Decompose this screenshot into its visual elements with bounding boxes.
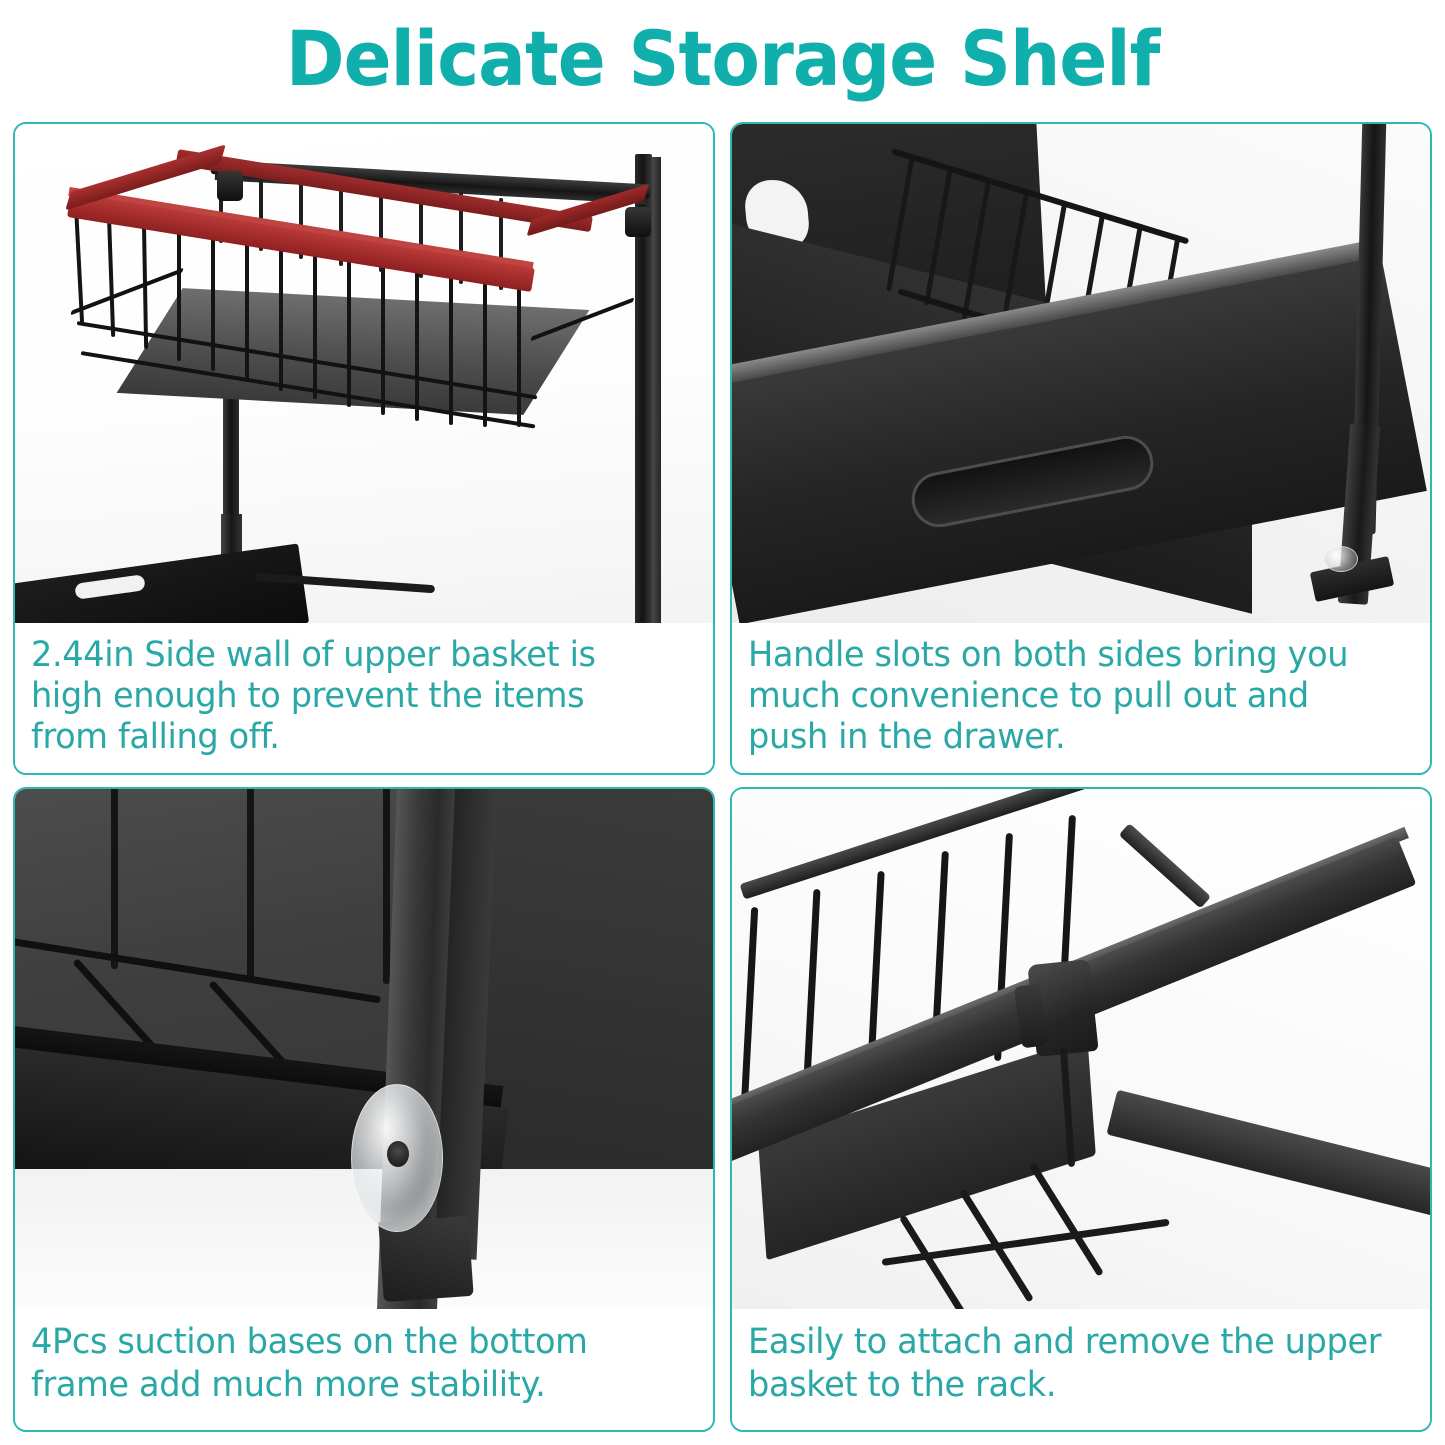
basket-rim-right [1119, 823, 1211, 908]
basket-wire [245, 235, 249, 381]
panel-caption-text: 4Pcs suction bases on the bottom frame a… [31, 1321, 670, 1407]
basket-lower-wire [1029, 1163, 1104, 1277]
panel-caption-text: Handle slots on both sides bring you muc… [748, 635, 1387, 758]
photo-backdrop [732, 789, 1430, 1309]
basket-wire [517, 283, 521, 427]
basket-bottom-rail-2 [81, 351, 536, 428]
feature-panel-upper-basket-side-wall: 2.44in Side wall of upper basket is high… [13, 122, 715, 775]
feature-panel-grid: 2.44in Side wall of upper basket is high… [13, 122, 1432, 1432]
basket-hook-clip [217, 171, 243, 201]
lower-shelf [15, 544, 309, 623]
page-title-bar: Delicate Storage Shelf [0, 0, 1445, 118]
product-photo-suction-base [15, 789, 713, 1309]
basket-side-rail-right [530, 297, 634, 341]
shelf-wire [111, 789, 118, 969]
product-photo-drawer-handle [732, 124, 1430, 623]
frame-post-right-inner [652, 157, 661, 623]
panel-caption-area: 2.44in Side wall of upper basket is high… [15, 623, 713, 773]
basket-wire [415, 265, 419, 421]
shelf-wire [383, 789, 390, 984]
basket-wire [211, 229, 215, 371]
basket-wire [449, 271, 453, 425]
product-photo-basket-hook [732, 789, 1430, 1309]
panel-caption-text: Easily to attach and remove the upper ba… [748, 1321, 1387, 1407]
product-photo-upper-basket [15, 124, 713, 623]
feature-panel-handle-slots: Handle slots on both sides bring you muc… [730, 122, 1432, 775]
panel-caption-area: Easily to attach and remove the upper ba… [732, 1309, 1430, 1430]
feature-panel-removable-basket: Easily to attach and remove the upper ba… [730, 787, 1432, 1432]
panel-caption-area: Handle slots on both sides bring you muc… [732, 623, 1430, 773]
basket-lower-rail [882, 1219, 1170, 1266]
suction-cup [1324, 546, 1358, 572]
basket-wire [483, 277, 487, 427]
drawer-wire [962, 179, 992, 320]
feature-panel-suction-bases: 4Pcs suction bases on the bottom frame a… [13, 787, 715, 1432]
drawer-wire [924, 167, 953, 306]
page-title: Delicate Storage Shelf [286, 19, 1160, 99]
basket-wire [381, 259, 385, 415]
infographic-page: Delicate Storage Shelf [0, 0, 1445, 1445]
basket-wire [347, 253, 351, 407]
basket-hook-clip [625, 207, 651, 237]
suction-cup-center-hole [387, 1141, 409, 1167]
basket-side-rail-left [70, 268, 183, 316]
panel-caption-text: 2.44in Side wall of upper basket is high… [31, 635, 670, 758]
photo-backdrop [15, 789, 713, 1309]
basket-wire [741, 907, 758, 1107]
photo-backdrop [732, 124, 1430, 623]
basket-wire [313, 247, 317, 399]
basket-wire [279, 241, 283, 391]
basket-wire [107, 211, 115, 337]
photo-backdrop [15, 124, 713, 623]
panel-caption-area: 4Pcs suction bases on the bottom frame a… [15, 1309, 713, 1430]
rack-rail-secondary [1106, 1090, 1430, 1227]
shelf-wire [247, 789, 254, 979]
upper-basket [69, 179, 629, 449]
shelf-side-panel [485, 789, 713, 1199]
